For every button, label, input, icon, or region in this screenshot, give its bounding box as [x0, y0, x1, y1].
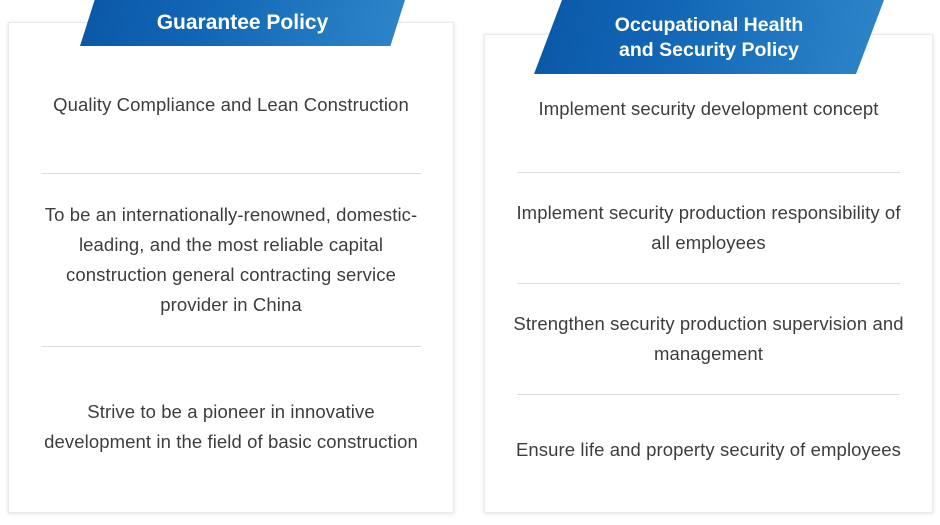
policy-card-guarantee-body: Quality Compliance and Lean Construction…: [9, 23, 453, 512]
policy-item-text: Strive to be a pioneer in innovative dev…: [31, 397, 431, 457]
policy-card-occupational-health-body: Implement security development concept I…: [485, 35, 932, 512]
policy-item-text: Strengthen security production supervisi…: [507, 309, 910, 369]
policy-card-guarantee: Quality Compliance and Lean Construction…: [8, 22, 454, 513]
policy-item: Quality Compliance and Lean Construction: [31, 53, 431, 173]
policy-banner-occupational-health: Occupational Health and Security Policy: [534, 0, 884, 74]
policy-item-text: Implement security development concept: [507, 94, 910, 124]
policy-item-text: Ensure life and property security of emp…: [507, 435, 910, 465]
policy-item-text: Quality Compliance and Lean Construction: [31, 90, 431, 120]
policy-banner-title: Guarantee Policy: [110, 0, 375, 46]
policy-card-occupational-health: Implement security development concept I…: [484, 34, 933, 513]
policy-item: Strive to be a pioneer in innovative dev…: [31, 347, 431, 507]
policy-banner-guarantee: Guarantee Policy: [80, 0, 405, 46]
policy-item: Strengthen security production supervisi…: [507, 284, 910, 394]
policy-item-text: Implement security production responsibi…: [507, 198, 910, 258]
policy-item: Implement security production responsibi…: [507, 173, 910, 283]
policy-banner-title: Occupational Health and Security Policy: [568, 13, 850, 63]
policy-panel-board: Quality Compliance and Lean Construction…: [0, 0, 940, 525]
policy-item: Ensure life and property security of emp…: [507, 395, 910, 505]
policy-item-text: To be an internationally-renowned, domes…: [31, 200, 431, 320]
policy-item: Implement security development concept: [507, 57, 910, 172]
policy-item: To be an internationally-renowned, domes…: [31, 174, 431, 346]
